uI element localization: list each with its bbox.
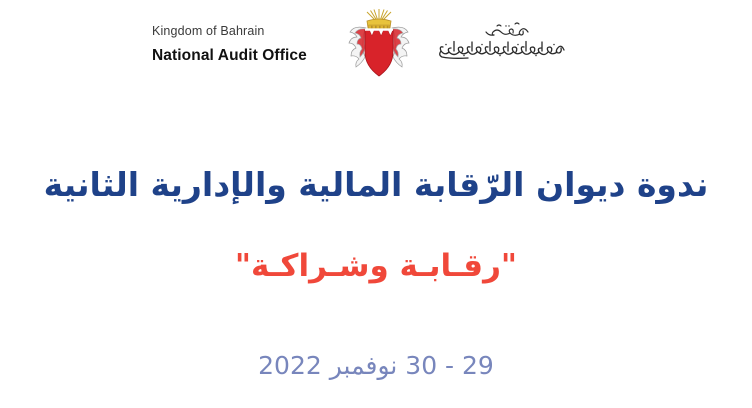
- national-audit-office-label: National Audit Office: [152, 47, 332, 66]
- english-wordmark: Kingdom of Bahrain National Audit Office: [152, 24, 332, 65]
- seminar-subtitle: "رقـابـة وشـراكـة": [0, 246, 752, 288]
- banner-page: Kingdom of Bahrain National Audit Office: [0, 0, 752, 408]
- kingdom-of-bahrain-label: Kingdom of Bahrain: [152, 24, 332, 40]
- bahrain-coat-of-arms-icon: [344, 8, 414, 82]
- seminar-title: ندوة ديوان الرّقابة المالية والإدارية ال…: [0, 163, 752, 208]
- seminar-date: 29 - 30 نوفمبر 2022: [0, 350, 752, 383]
- arabic-calligraphy-wordmark: [432, 16, 572, 72]
- banner-header: Kingdom of Bahrain National Audit Office: [0, 0, 752, 92]
